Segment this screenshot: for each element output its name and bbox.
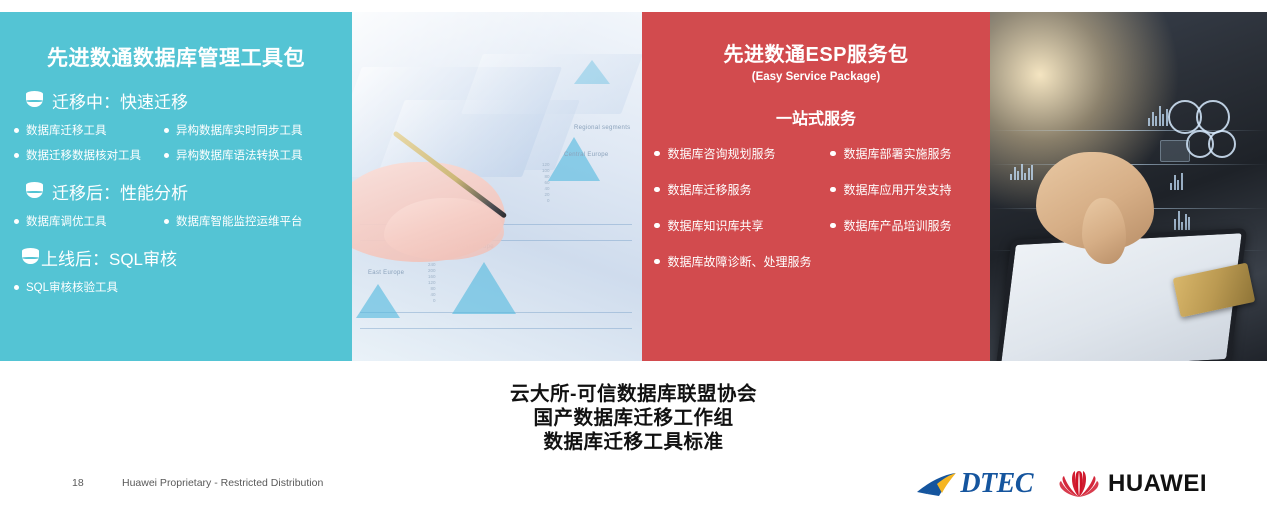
bullet-dot [164, 153, 169, 158]
left-section-heading-migrating: 迁移中：快速迁移 [26, 88, 352, 113]
photo-hand-writing-charts: Regional segments Central Europe West Eu… [352, 12, 642, 361]
bullet-dot [830, 151, 836, 157]
dtec-logo-text: DTEC [960, 470, 1033, 498]
dtec-logo: DTEC [915, 470, 1033, 498]
logo-group: DTEC [915, 470, 1207, 498]
database-icon [26, 91, 43, 111]
database-icon [26, 182, 43, 202]
list-item: 数据库知识库共享 [654, 217, 830, 234]
list-item: 数据库产品培训服务 [830, 217, 990, 234]
list-item-label: 数据库咨询规划服务 [668, 145, 776, 162]
list-item: SQL审核核验工具 [14, 279, 352, 295]
database-icon [22, 248, 39, 268]
left-section-heading-after-launch: 上线后：SQL审核 [22, 245, 352, 270]
bullet-dot [14, 153, 19, 158]
huawei-logo-text: HUAWEI [1108, 472, 1207, 496]
list-item: 数据库迁移服务 [654, 181, 830, 198]
list-item-label: SQL审核核验工具 [26, 279, 118, 295]
left-section-heading-text: 迁移后：性能分析 [52, 179, 188, 204]
right-panel-mid-heading: 一站式服务 [642, 105, 990, 129]
left-section-heading-after-migration: 迁移后：性能分析 [26, 179, 352, 204]
dtec-swoosh-icon [915, 470, 959, 498]
bullet-dot [14, 128, 19, 133]
list-item-label: 数据库迁移服务 [668, 181, 752, 198]
list-item: 数据库咨询规划服务 [654, 145, 830, 162]
list-item-label: 数据库知识库共享 [668, 217, 764, 234]
huawei-logo: HUAWEI [1059, 471, 1207, 498]
list-item-label: 数据库智能监控运维平台 [176, 213, 303, 229]
right-panel-title: 先进数通ESP服务包 [642, 12, 990, 67]
list-item: 异构数据库实时同步工具 [164, 122, 339, 138]
list-item-label: 数据库部署实施服务 [844, 145, 952, 162]
right-panel-esp: 先进数通ESP服务包 (Easy Service Package) 一站式服务 … [642, 12, 990, 361]
footer: 18 Huawei Proprietary - Restricted Distr… [0, 466, 1267, 510]
list-item-label: 数据库迁移工具 [26, 122, 107, 138]
list-item: 数据库故障诊断、处理服务 [654, 253, 830, 270]
proprietary-notice: Huawei Proprietary - Restricted Distribu… [122, 477, 323, 489]
right-panel-items: 数据库咨询规划服务 数据库部署实施服务 数据库迁移服务 数据库应用开发支持 数据… [654, 145, 990, 270]
list-item-label: 数据库调优工具 [26, 213, 107, 229]
list-item-label: 异构数据库语法转换工具 [176, 147, 303, 163]
left-section-items-after-migration: 数据库调优工具 数据库智能监控运维平台 [14, 213, 352, 229]
list-item: 数据库迁移工具 [14, 122, 164, 138]
list-item: 异构数据库语法转换工具 [164, 147, 339, 163]
bullet-dot [830, 187, 836, 193]
left-section-heading-text: 上线后：SQL审核 [41, 245, 177, 270]
list-item-label: 数据库产品培训服务 [844, 217, 952, 234]
list-item-label: 数据迁移数据核对工具 [26, 147, 141, 163]
caption-line-3: 数据库迁移工具标准 [0, 430, 1267, 454]
list-item: 数据库应用开发支持 [830, 181, 990, 198]
bullet-dot [164, 128, 169, 133]
huawei-flower-icon [1059, 471, 1099, 498]
left-section-items-migrating: 数据库迁移工具 异构数据库实时同步工具 数据迁移数据核对工具 异构数据库语法转换… [14, 122, 352, 163]
bullet-dot [830, 223, 836, 229]
caption-line-2: 国产数据库迁移工作组 [0, 406, 1267, 430]
banner-strip: Regional segments Central Europe West Eu… [0, 12, 1267, 361]
bullet-dot [14, 219, 19, 224]
bullet-dot [654, 223, 660, 229]
list-item: 数据库智能监控运维平台 [164, 213, 339, 229]
left-section-items-after-launch: SQL审核核验工具 [14, 279, 352, 295]
bullet-dot [654, 151, 660, 157]
list-item: 数据库部署实施服务 [830, 145, 990, 162]
right-panel-subtitle: (Easy Service Package) [642, 71, 990, 83]
list-item: 数据迁移数据核对工具 [14, 147, 164, 163]
page-number: 18 [72, 477, 84, 489]
left-panel-title: 先进数通数据库管理工具包 [0, 12, 352, 72]
list-item-label: 数据库故障诊断、处理服务 [668, 253, 812, 270]
list-item: 数据库调优工具 [14, 213, 164, 229]
photo-tablet-touch [990, 12, 1267, 361]
caption-line-1: 云大所-可信数据库联盟协会 [0, 382, 1267, 406]
bullet-dot [654, 259, 660, 265]
bullet-dot [164, 219, 169, 224]
left-panel-toolkit: 先进数通数据库管理工具包 迁移中：快速迁移 数据库迁移工具 异构数据库实时同步工… [0, 12, 352, 361]
left-section-heading-text: 迁移中：快速迁移 [52, 88, 188, 113]
slide: Regional segments Central Europe West Eu… [0, 0, 1267, 510]
list-item-label: 数据库应用开发支持 [844, 181, 952, 198]
caption-block: 云大所-可信数据库联盟协会 国产数据库迁移工作组 数据库迁移工具标准 [0, 382, 1267, 454]
bullet-dot [14, 285, 19, 290]
list-item-label: 异构数据库实时同步工具 [176, 122, 303, 138]
bullet-dot [654, 187, 660, 193]
